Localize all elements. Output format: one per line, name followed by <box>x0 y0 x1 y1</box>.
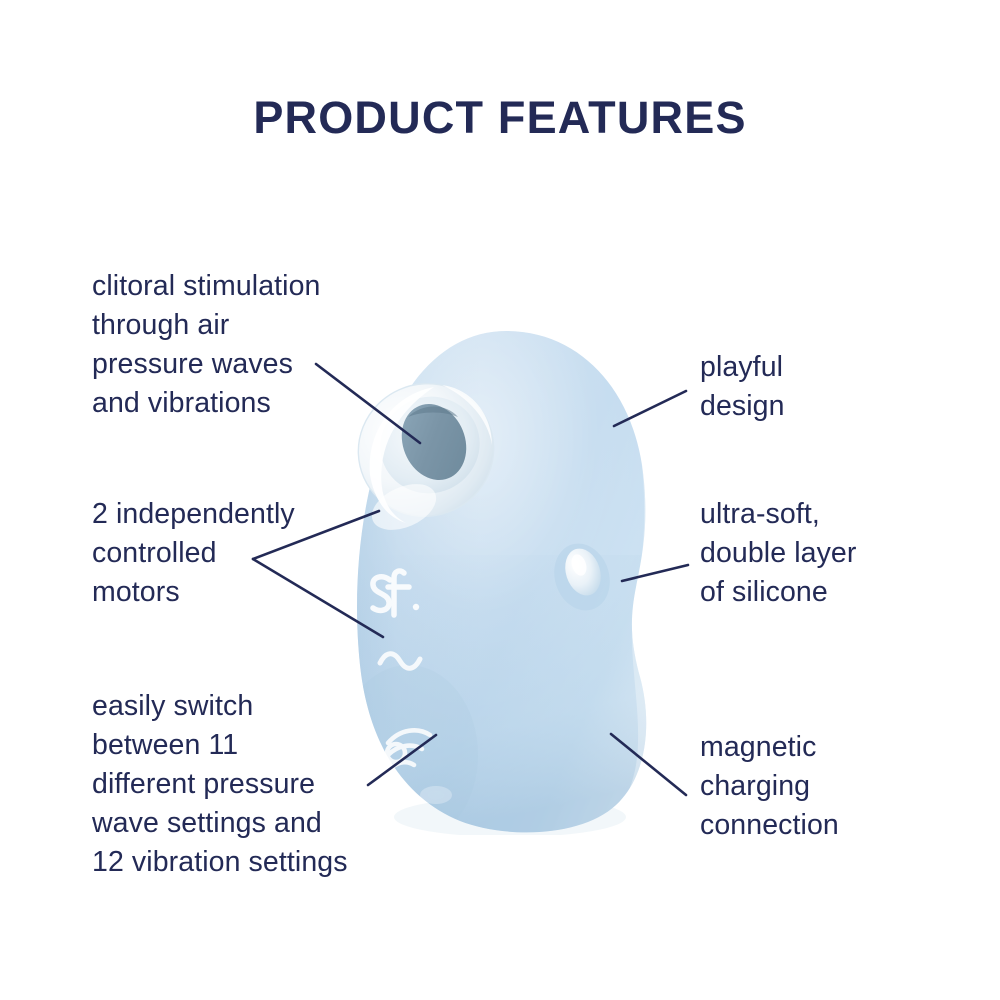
feature-label-clitoral-stimulation: clitoral stimulation through air pressur… <box>92 267 392 423</box>
magnetic-charging-contact <box>420 786 452 804</box>
feature-label-independent-motors: 2 independently controlled motors <box>92 495 392 612</box>
page-title: PRODUCT FEATURES <box>0 92 1000 144</box>
feature-label-magnetic-charging: magnetic charging connection <box>700 728 960 845</box>
feature-label-settings: easily switch between 11 different press… <box>92 687 412 882</box>
feature-label-silicone: ultra-soft, double layer of silicone <box>700 495 970 612</box>
feature-label-playful-design: playful design <box>700 348 960 426</box>
product-features-infographic: PRODUCT FEATURES <box>0 0 1000 1000</box>
